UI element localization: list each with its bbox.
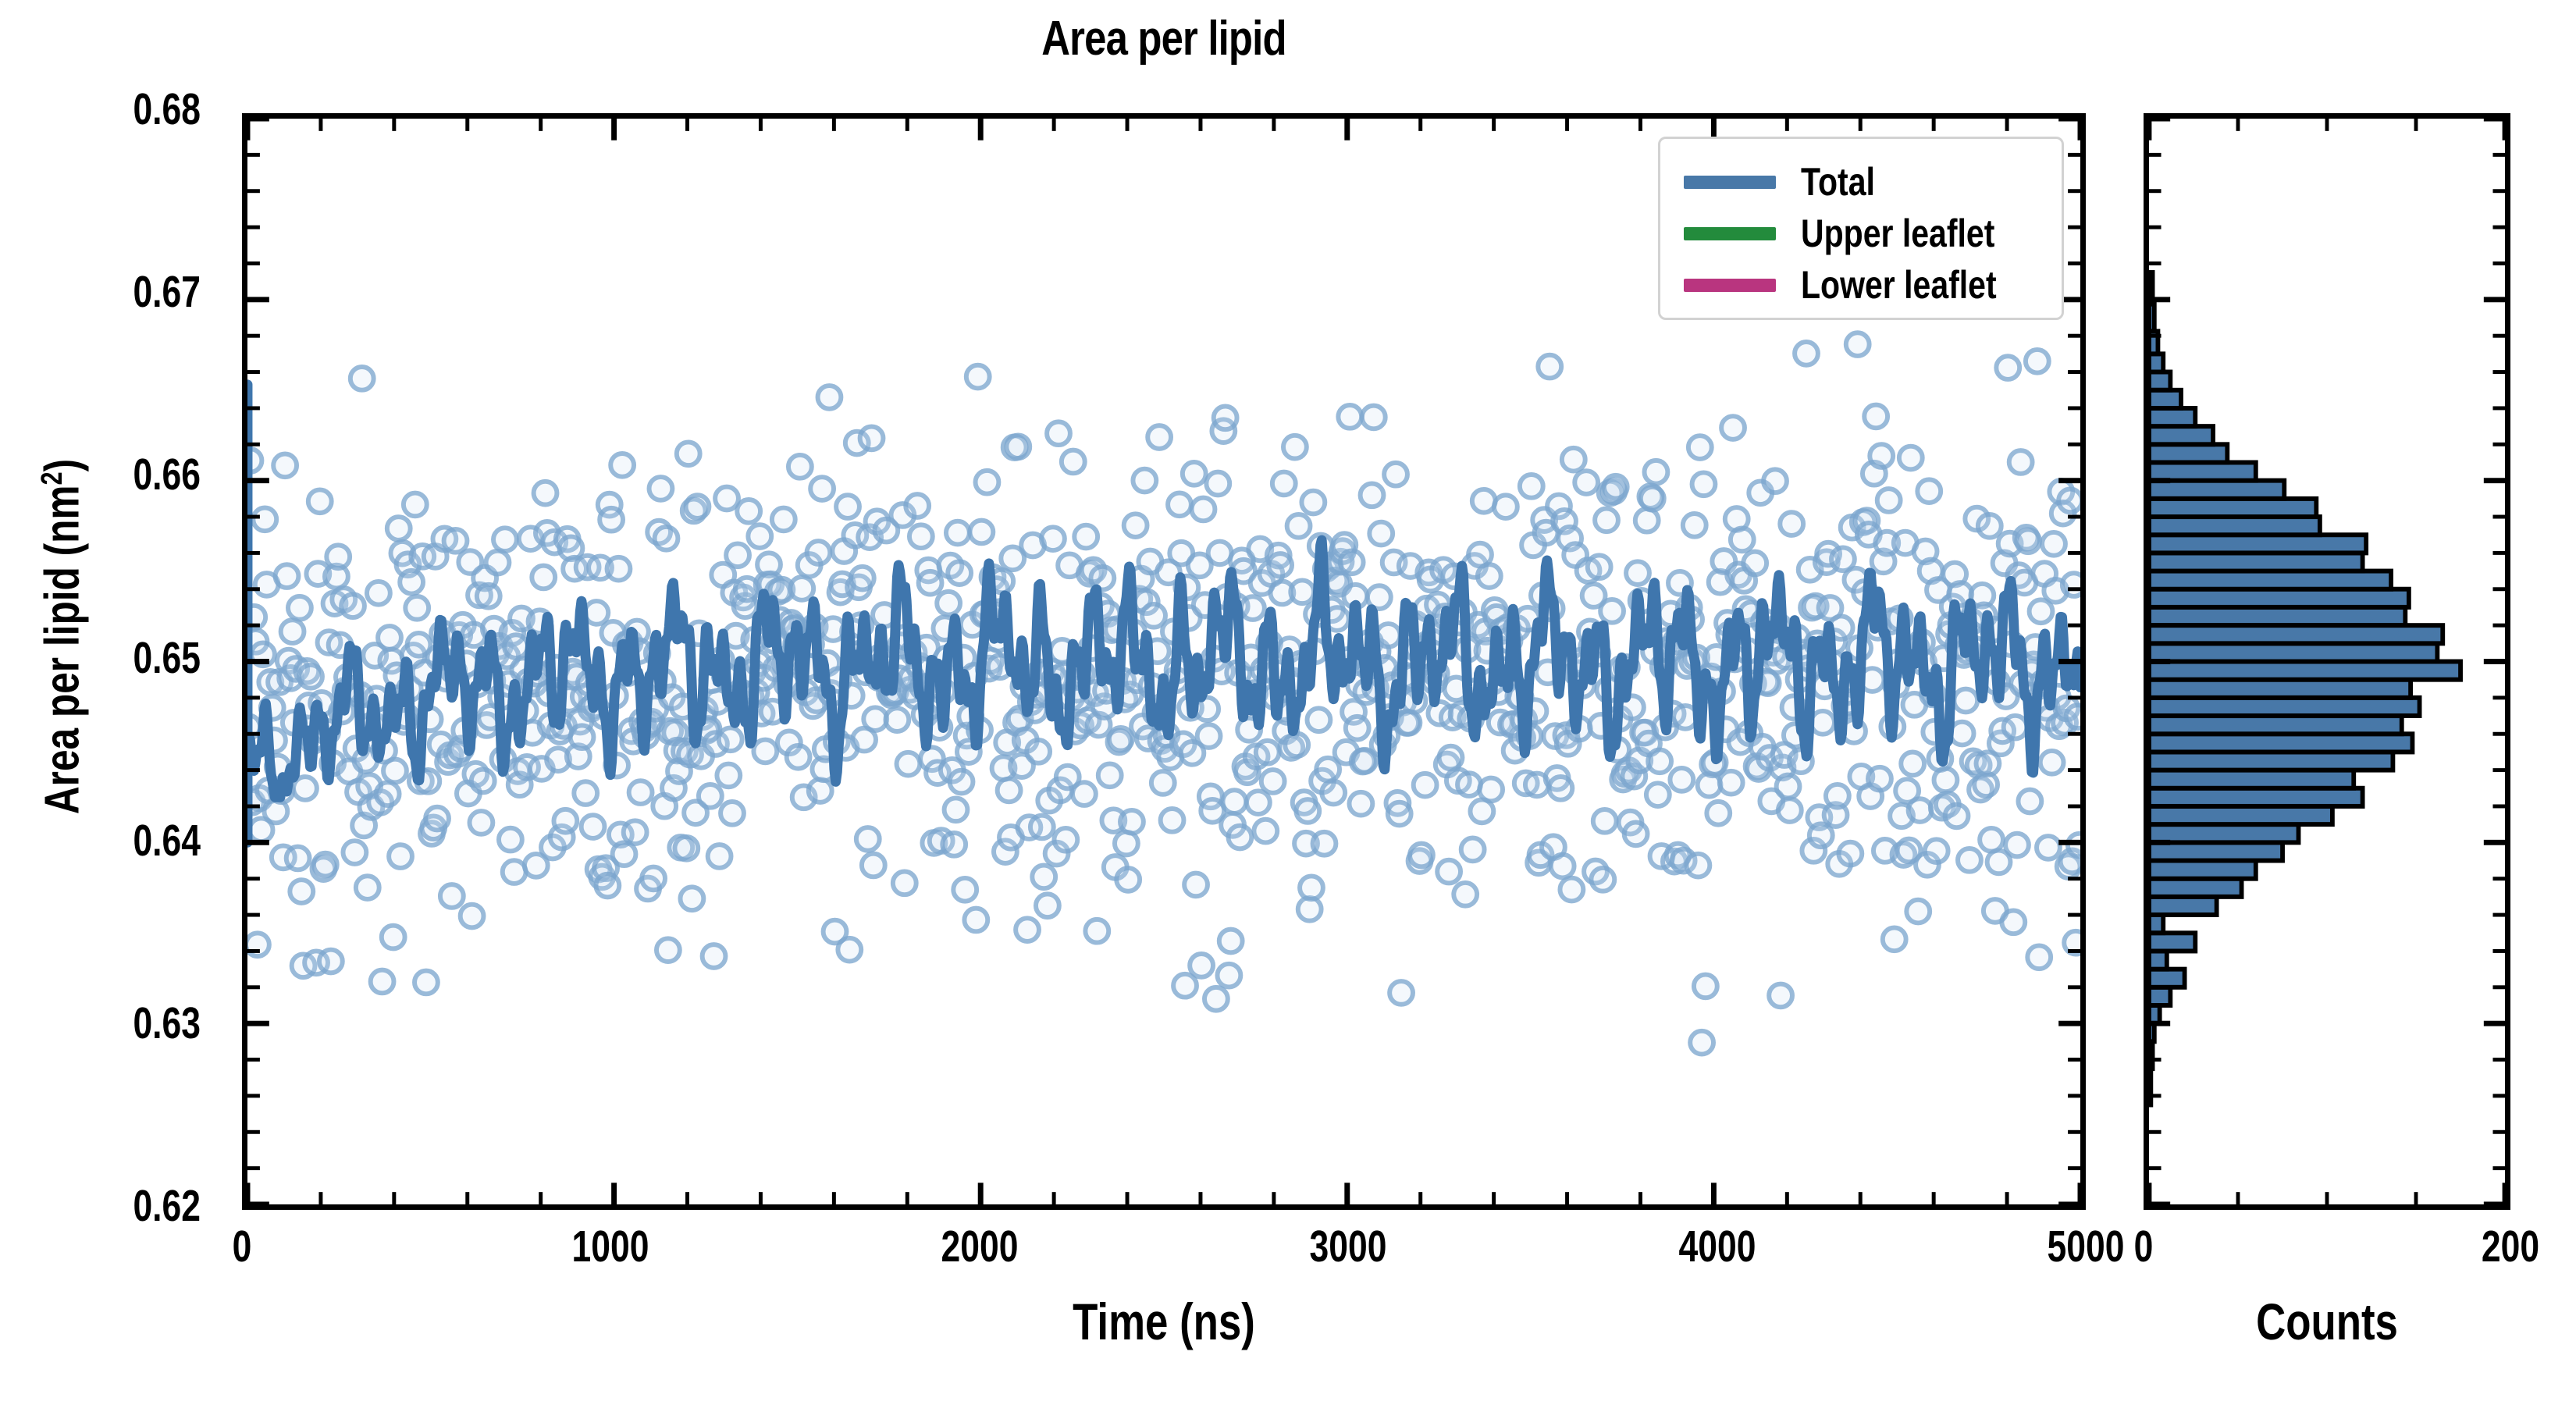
histogram-bar [2149,716,2402,734]
histogram-bar [2149,372,2170,390]
x-tick-label: 0 [151,1221,333,1272]
histogram-bar [2149,915,2163,933]
y-axis-label-exponent: 2 [35,471,69,485]
histogram-bar [2149,1005,2160,1023]
x-tick-label: 3000 [1257,1221,1439,1272]
x-tick-label: 4000 [1626,1221,1809,1272]
histogram-bar [2149,589,2409,607]
y-tick-label: 0.68 [18,84,201,135]
legend-item-label: Total [1801,159,1875,205]
histogram-bar [2149,842,2282,860]
legend-color-swatch [1684,176,1776,189]
histogram-x-tick-label: 200 [2419,1221,2576,1272]
histogram-bar [2149,553,2363,571]
histogram-bar [2149,462,2256,480]
histogram-x-tick-label: 0 [2052,1221,2235,1272]
legend-item-label: Lower leaflet [1801,262,1997,308]
histogram-bar [2149,535,2366,553]
legend-item-total[interactable]: Total [1660,156,2062,208]
histogram-bar [2149,933,2195,951]
histogram-bar [2149,824,2299,842]
figure-canvas: Area per lipid 0.620.630.640.650.660.670… [0,0,2576,1405]
histogram-bar [2149,426,2213,444]
x-tick-label: 1000 [519,1221,702,1272]
histogram-bar [2149,969,2185,987]
histogram-bar [2149,662,2460,680]
legend[interactable]: TotalUpper leafletLower leaflet [1658,137,2064,320]
histogram-bar [2149,861,2256,879]
histogram-bar [2149,734,2412,752]
legend-item-lower-leaflet[interactable]: Lower leaflet [1660,259,2062,311]
histogram-plot-area [2149,119,2505,1204]
histogram-bar [2149,879,2242,897]
histogram-x-axis-label: Counts [2180,1292,2474,1351]
histogram-bar [2149,951,2167,969]
y-axis-label: Area per lipid (nm2) [35,199,91,1073]
y-axis-label-tail: ) [36,459,90,472]
histogram-bar [2149,354,2163,372]
histogram-bar [2149,1041,2153,1069]
histogram-bar [2149,698,2420,716]
histogram-bar [2149,390,2181,408]
histogram-bars [2149,272,2460,1104]
histogram-bar [2149,625,2443,643]
histogram-bar [2149,499,2316,517]
histogram-bar [2149,1069,2151,1104]
x-tick-label: 2000 [888,1221,1071,1272]
histogram-bar [2149,987,2170,1005]
histogram-bar [2149,304,2154,332]
histogram-bar [2149,408,2195,426]
y-axis-label-text: Area per lipid (nm [36,485,90,814]
histogram-bar [2149,680,2411,698]
x-axis-label: Time (ns) [426,1292,1902,1351]
legend-color-swatch [1684,227,1776,240]
legend-item-label: Upper leaflet [1801,211,1994,256]
histogram-bar [2149,517,2320,535]
legend-color-swatch [1684,279,1776,292]
legend-item-upper-leaflet[interactable]: Upper leaflet [1660,208,2062,259]
histogram-bar [2149,806,2332,824]
histogram-bar [2149,788,2363,806]
histogram-bar [2149,752,2393,770]
histogram-bar [2149,607,2405,625]
histogram-bar [2149,444,2227,462]
histogram-axes [2144,113,2510,1210]
page-title: Area per lipid [408,11,1920,66]
histogram-bar [2149,770,2354,788]
histogram-bar [2149,897,2217,915]
histogram-bar [2149,643,2437,661]
histogram-bar [2149,571,2391,589]
